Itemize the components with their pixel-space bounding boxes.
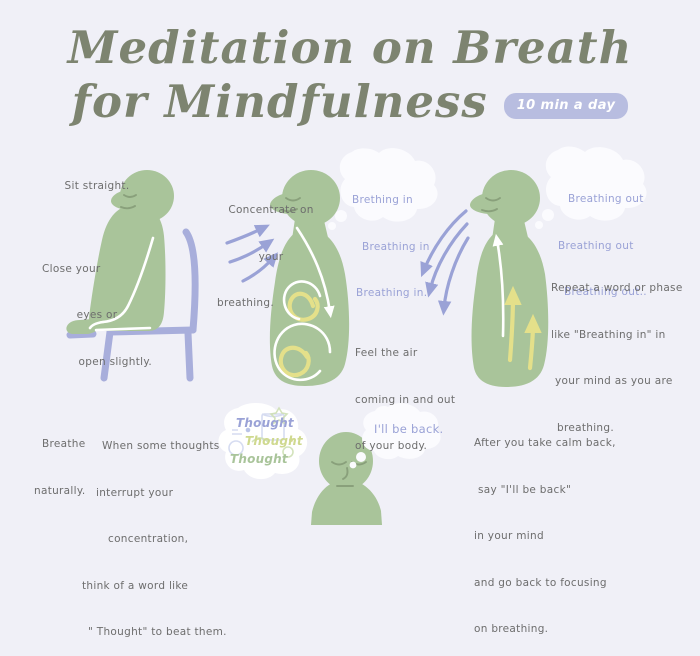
feel-air-line-1: Feel the air <box>355 346 475 362</box>
thoughts-line-3: concentration, <box>108 532 242 548</box>
bubble-in-line-2: Breathing in <box>362 240 442 256</box>
step2-line-1: Concentrate on <box>211 203 331 219</box>
feel-air-text: Feel the air coming in and out of your b… <box>355 315 475 470</box>
feel-air-line-3: of your body. <box>355 439 475 455</box>
comeback-line-2: say "I'll be back" <box>478 483 664 499</box>
step1-line-3: eyes or <box>42 308 152 324</box>
step1-line-1: Sit straight. <box>42 179 152 195</box>
bubble-in-line-1: Brething in <box>352 193 442 209</box>
thought-word-3: Thought <box>230 452 288 466</box>
repeat-line-3: your mind as you are <box>555 374 700 390</box>
step1-line-2: Close your <box>42 262 152 278</box>
feel-air-line-2: coming in and out <box>355 393 475 409</box>
ill-be-back-bubble-text: I'll be back. <box>374 422 444 438</box>
comeback-line-3: in your mind <box>474 529 664 545</box>
step2-line-2: your <box>211 250 331 266</box>
repeat-line-1: Repeat a word or phase <box>551 281 700 297</box>
thoughts-line-4: think of a word like <box>82 579 242 595</box>
come-back-text: After you take calm back, say "I'll be b… <box>474 405 664 653</box>
step2-instructions: Concentrate on your breathing. <box>211 172 331 327</box>
bubble-breathing-in-text: Brething in Breathing in Breathing in.. <box>352 162 442 317</box>
bubble-in-line-3: Breathing in.. <box>356 286 442 302</box>
thought-word-1: Thought <box>236 416 294 430</box>
comeback-line-5: on breathing. <box>474 622 664 638</box>
comeback-line-1: After you take calm back, <box>474 436 664 452</box>
thoughts-line-5: " Thought" to beat them. <box>88 625 242 641</box>
thoughts-line-2: interrupt your <box>96 486 242 502</box>
thought-word-2: Thought <box>245 434 303 448</box>
step2-line-3: breathing. <box>217 296 331 312</box>
step1-line-4: open slightly. <box>42 355 152 371</box>
thoughts-line-1: When some thoughts <box>102 439 242 455</box>
interrupting-thoughts-text: When some thoughts interrupt your concen… <box>82 408 242 656</box>
comeback-line-4: and go back to focusing <box>474 576 664 592</box>
repeat-line-2: like "Breathing in" in <box>551 328 700 344</box>
bubble-out-line-1: Breathing out <box>568 192 658 208</box>
